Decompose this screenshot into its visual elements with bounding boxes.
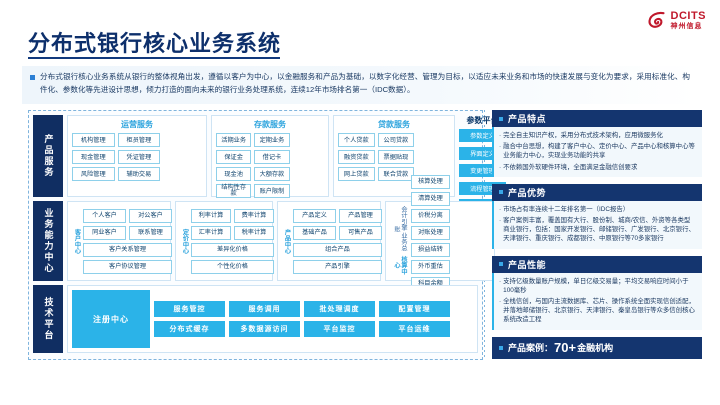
center-cell[interactable]: 客户协议管理	[83, 260, 172, 274]
center-cell[interactable]: 客户关系管理	[83, 243, 172, 257]
tech-chip[interactable]: 批处理调度	[304, 301, 375, 317]
tech-chip[interactable]: 平台监控	[304, 321, 375, 337]
tech-chip[interactable]: 服务管控	[154, 301, 225, 317]
group-operation-service: 运营服务 机构管理 柜员管理 现金管理 凭证管理 风险管理 辅助交易	[67, 115, 207, 197]
center-cell[interactable]: 差异化价格	[191, 243, 274, 257]
service-cell[interactable]: 定期业务	[254, 133, 289, 147]
list-item-text: 全栈信创，与国内主流数据库、芯片、操作系统全面实现信创适配，并落地邮储银行、北京…	[503, 297, 696, 325]
page-title: 分布式银行核心业务系统	[28, 26, 281, 58]
tech-chip[interactable]: 配置管理	[379, 301, 450, 317]
center-product: 产品中心 产品定义 产品管理 基础产品 可售产品 组合产品 产品引擎	[277, 201, 381, 281]
band-capability-center: 业务能力中心 客户中心 个人客户 对公客户 同业客户 联系管理 客户关系管理 客…	[33, 201, 478, 281]
card-body: ·完全自主知识产权，采用分布式技术架构，应用微服务化 ·融合中台思想，构建了客户…	[492, 127, 702, 177]
center-cell[interactable]: 损益结转	[411, 243, 450, 257]
tech-chip[interactable]: 服务调用	[229, 301, 300, 317]
service-cell[interactable]: 票据贴现	[378, 150, 415, 164]
center-cell[interactable]: 核算处理	[411, 175, 450, 189]
registry-center[interactable]: 注册中心	[72, 290, 150, 348]
dot-icon: ·	[499, 163, 501, 172]
center-cell[interactable]: 个人客户	[83, 209, 126, 223]
tech-chip-list: 服务管控 服务调用 批处理调度 配置管理 分布式缓存 多数据源访问 平台监控 平…	[154, 290, 473, 348]
list-item: ·市场占有率连续十二年排名第一（IDC报告）	[499, 205, 696, 214]
group-title: 存款服务	[216, 119, 324, 130]
card-body: ·支持亿级数量账户规模，单日亿级交易量；平均交易响应时间小于100毫秒 ·全栈信…	[492, 273, 702, 330]
service-cell[interactable]: 机构管理	[72, 133, 115, 147]
center-cell[interactable]: 对公客户	[129, 209, 172, 223]
architecture-diagram: 产品服务 运营服务 机构管理 柜员管理 现金管理 凭证管理 风险管理 辅助交易	[28, 110, 483, 360]
logo-text: DCITS 神州信息	[671, 11, 707, 30]
center-label: 定价中心	[179, 205, 191, 277]
tech-chip[interactable]: 平台运维	[379, 321, 450, 337]
center-cell[interactable]: 税率计算	[234, 226, 274, 240]
service-cell[interactable]: 融资贷款	[338, 150, 375, 164]
group-title: 运营服务	[72, 119, 202, 130]
center-cell[interactable]: 同业客户	[83, 226, 126, 240]
card-product-advantages: 产品优势 ·市场占有率连续十二年排名第一（IDC报告） ·客户案例丰富，覆盖国有…	[492, 184, 702, 249]
center-label-main: 核算中心	[393, 254, 407, 277]
case-suffix: 金融机构	[577, 341, 613, 354]
list-item: ·完全自主知识产权，采用分布式技术架构，应用微服务化	[499, 131, 696, 140]
center-customer: 客户中心 个人客户 对公客户 同业客户 联系管理 客户关系管理 客户协议管理	[67, 201, 171, 281]
intro-text: 分布式银行核心业务系统从银行的整体视角出发，遵循以客户为中心，以金融服务和产品为…	[40, 71, 690, 104]
center-cell[interactable]: 产品定义	[293, 209, 336, 223]
center-cell[interactable]: 利率计算	[191, 209, 231, 223]
dot-icon: ·	[499, 142, 501, 160]
service-cell[interactable]: 联合贷款	[378, 167, 415, 181]
center-label-sub: 会计引擎 业务总账	[393, 205, 407, 253]
square-bullet-icon	[30, 75, 35, 80]
center-label: 客户中心	[71, 205, 83, 277]
service-cell[interactable]: 活期业务	[216, 133, 251, 147]
group-deposit-service: 存款服务 活期业务 定期业务 保证金 借记卡 现金池 大额存款 结构性存款 账户…	[211, 115, 329, 197]
square-bullet-icon	[499, 346, 503, 350]
service-cell[interactable]: 个人贷款	[338, 133, 375, 147]
square-bullet-icon	[499, 117, 503, 121]
list-item: ·全栈信创，与国内主流数据库、芯片、操作系统全面实现信创适配，并落地邮储银行、北…	[499, 297, 696, 325]
dot-icon: ·	[499, 216, 501, 244]
center-cell[interactable]: 汇率计算	[191, 226, 231, 240]
service-cell[interactable]: 保证金	[216, 150, 251, 164]
center-accounting: 核算中心 会计引擎 业务总账 核算处理 清算处理 价税分离 对账处理 损益结转 …	[385, 201, 495, 281]
dot-icon: ·	[499, 297, 501, 325]
center-cell[interactable]: 产品管理	[339, 209, 382, 223]
card-title: 产品特点	[508, 112, 546, 125]
center-cell[interactable]: 组合产品	[293, 243, 382, 257]
service-cell[interactable]: 凭证管理	[118, 150, 161, 164]
card-product-performance: 产品性能 ·支持亿级数量账户规模，单日亿级交易量；平均交易响应时间小于100毫秒…	[492, 256, 702, 330]
list-item: ·不依赖国外软硬件环境，全面满足金融信创要求	[499, 163, 696, 172]
dot-icon: ·	[499, 131, 501, 140]
center-cell[interactable]: 对账处理	[411, 226, 450, 240]
list-item-text: 客户案例丰富，覆盖国有大行、股份制、城商/农信、外资等各类型商业银行，包括：国家…	[503, 216, 696, 244]
title-underline	[28, 57, 280, 59]
center-label: 核算中心 会计引擎 业务总账	[389, 205, 411, 277]
band-label-capability-center: 业务能力中心	[33, 201, 63, 281]
service-cell[interactable]: 网上贷款	[338, 167, 375, 181]
card-header: 产品优势	[492, 184, 702, 201]
square-bullet-icon	[499, 190, 503, 194]
center-cell[interactable]: 外币重估	[411, 260, 450, 274]
band-label-product-service: 产品服务	[33, 115, 63, 197]
list-item-text: 融合中台思想，构建了客户中心、定价中心、产品中心和核算中心等业务能力中心，实现业…	[503, 142, 696, 160]
intro-band: 分布式银行核心业务系统从银行的整体视角出发，遵循以客户为中心，以金融服务和产品为…	[22, 66, 698, 104]
card-title: 产品性能	[508, 258, 546, 271]
center-cell[interactable]: 个性化价格	[191, 260, 274, 274]
card-product-features: 产品特点 ·完全自主知识产权，采用分布式技术架构，应用微服务化 ·融合中台思想，…	[492, 110, 702, 177]
center-cell[interactable]: 清算处理	[411, 192, 450, 206]
group-title: 贷款服务	[338, 119, 450, 130]
card-title: 产品优势	[508, 186, 546, 199]
list-item: ·支持亿级数量账户规模，单日亿级交易量；平均交易响应时间小于100毫秒	[499, 277, 696, 295]
service-cell[interactable]: 风险管理	[72, 167, 115, 181]
list-item: ·客户案例丰富，覆盖国有大行、股份制、城商/农信、外资等各类型商业银行，包括：国…	[499, 216, 696, 244]
center-cell[interactable]: 价税分离	[411, 209, 450, 223]
dcits-swoosh-icon	[647, 10, 667, 30]
dot-icon: ·	[499, 205, 501, 214]
center-label: 产品中心	[281, 205, 293, 277]
tech-platform-box: 注册中心 服务管控 服务调用 批处理调度 配置管理 分布式缓存 多数据源访问 平…	[67, 285, 478, 353]
logo-en: DCITS	[671, 11, 707, 22]
list-item-text: 完全自主知识产权，采用分布式技术架构，应用微服务化	[503, 131, 663, 140]
case-number: 70+	[554, 340, 576, 355]
center-cell[interactable]: 产品引擎	[293, 260, 382, 274]
band-label-tech-platform: 技术平台	[33, 285, 63, 353]
center-cell[interactable]: 基础产品	[293, 226, 336, 240]
service-cell[interactable]: 公司贷款	[378, 133, 415, 147]
list-item-text: 不依赖国外软硬件环境，全面满足金融信创要求	[503, 163, 637, 172]
right-panel: 产品特点 ·完全自主知识产权，采用分布式技术架构，应用微服务化 ·融合中台思想，…	[492, 110, 702, 360]
service-cell[interactable]: 柜员管理	[118, 133, 161, 147]
slide-root: DCITS 神州信息 分布式银行核心业务系统 分布式银行核心业务系统从银行的整体…	[0, 0, 720, 405]
card-header: 产品特点	[492, 110, 702, 127]
case-prefix: 产品案例：	[508, 341, 553, 354]
service-cell[interactable]: 账户限制	[254, 184, 289, 198]
center-cell[interactable]: 可售产品	[339, 226, 382, 240]
service-cell[interactable]: 辅助交易	[118, 167, 161, 181]
group-cells: 机构管理 柜员管理 现金管理 凭证管理 风险管理 辅助交易	[72, 133, 202, 181]
square-bullet-icon	[499, 262, 503, 266]
tech-chip[interactable]: 多数据源访问	[229, 321, 300, 337]
service-cell[interactable]: 借记卡	[254, 150, 289, 164]
list-item: ·融合中台思想，构建了客户中心、定价中心、产品中心和核算中心等业务能力中心，实现…	[499, 142, 696, 160]
card-body: ·市场占有率连续十二年排名第一（IDC报告） ·客户案例丰富，覆盖国有大行、股份…	[492, 201, 702, 249]
product-case-banner: 产品案例： 70+ 金融机构	[492, 337, 702, 359]
service-cell[interactable]: 大额存款	[254, 167, 289, 181]
tech-chip[interactable]: 分布式缓存	[154, 321, 225, 337]
logo-cn: 神州信息	[671, 23, 707, 30]
service-cell[interactable]: 现金池	[216, 167, 251, 181]
band-tech-platform: 技术平台 注册中心 服务管控 服务调用 批处理调度 配置管理 分布式缓存 多数据…	[33, 285, 478, 353]
card-header: 产品性能	[492, 256, 702, 273]
center-cell[interactable]: 费率计算	[234, 209, 274, 223]
dot-icon: ·	[499, 277, 501, 295]
list-item-text: 市场占有率连续十二年排名第一（IDC报告）	[503, 205, 629, 214]
service-cell[interactable]: 结构性存款	[216, 184, 251, 198]
list-item-text: 支持亿级数量账户规模，单日亿级交易量；平均交易响应时间小于100毫秒	[503, 277, 696, 295]
brand-logo: DCITS 神州信息	[647, 10, 707, 30]
center-pricing: 定价中心 利率计算 费率计算 汇率计算 税率计算 差异化价格 个性化价格	[175, 201, 273, 281]
center-cell[interactable]: 联系管理	[129, 226, 172, 240]
service-cell[interactable]: 现金管理	[72, 150, 115, 164]
